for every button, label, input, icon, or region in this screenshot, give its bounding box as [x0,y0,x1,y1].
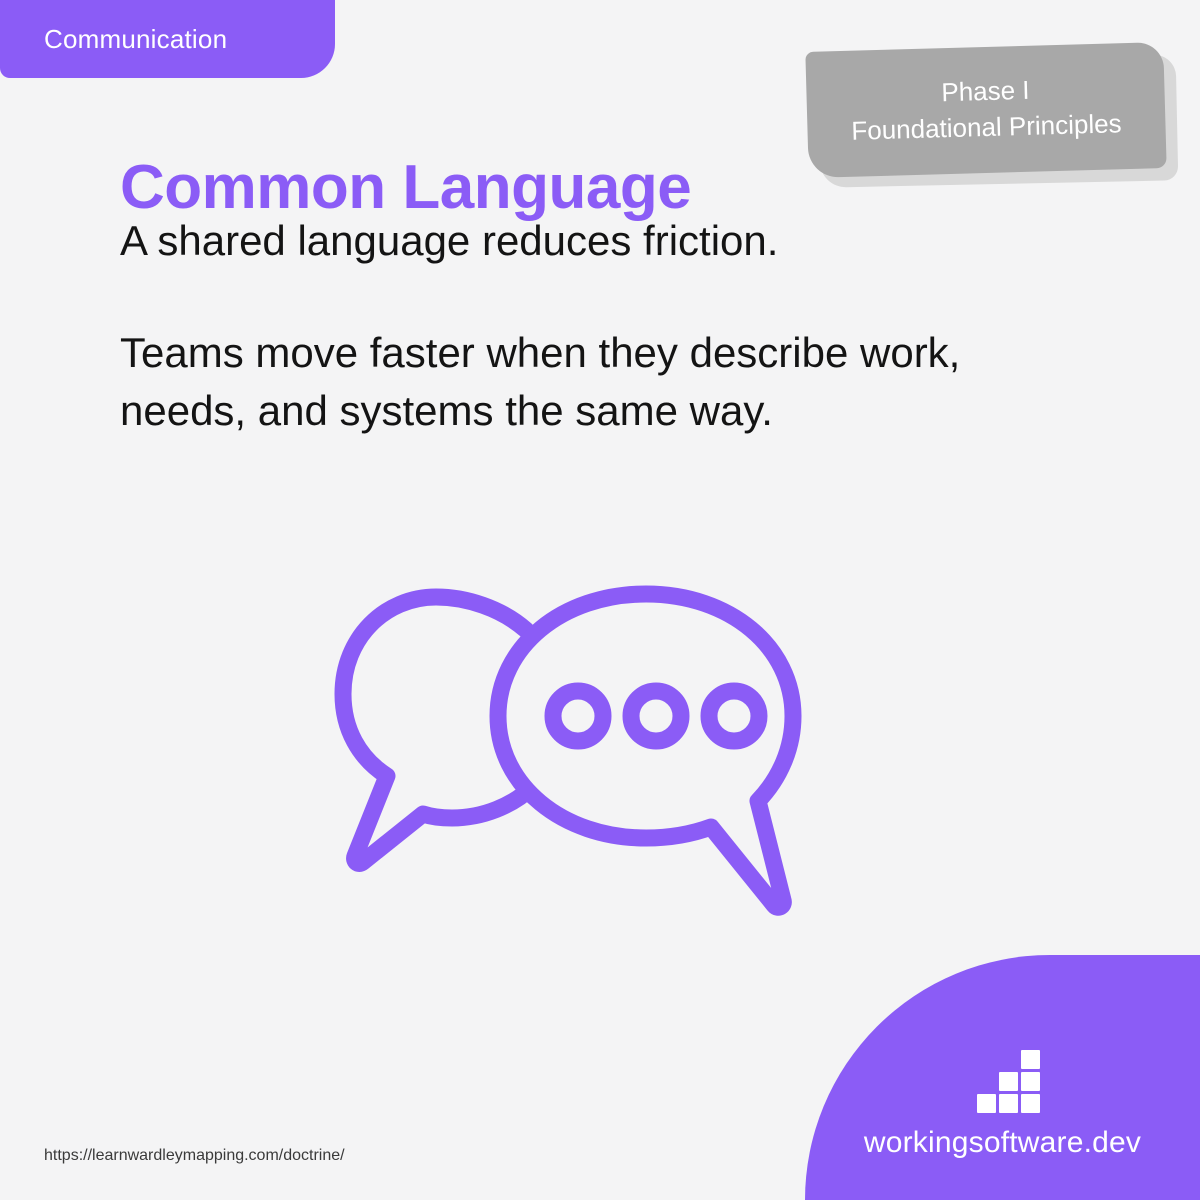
phase-sticker-body: Phase I Foundational Principles [805,42,1166,178]
logo-square-mid-right [1021,1072,1040,1091]
two-speech-bubbles-icon [330,570,830,935]
body-paragraph-2: Teams move faster when they describe wor… [120,324,1070,440]
logo-square-mid-center [999,1072,1018,1091]
logo-square-top-right [1021,1050,1040,1069]
body-paragraph-1: A shared language reduces friction. [120,212,1070,270]
brand-name: workingsoftware.dev [864,1128,1141,1158]
doctrine-card: Communication Phase I Foundational Princ… [0,0,1200,1200]
right-speech-bubble [498,594,793,907]
phase-sticker-line-2: Foundational Principles [851,109,1122,146]
speech-bubbles-svg [330,570,830,935]
logo-square-bottom-left [977,1094,996,1113]
category-tab: Communication [0,0,335,78]
staircase-blocks-logo [977,1050,1043,1112]
logo-square-bottom-center [999,1094,1018,1113]
phase-sticker-line-1: Phase I [941,76,1030,108]
logo-square-bottom-right [1021,1094,1040,1113]
body-copy: A shared language reduces friction. Team… [120,212,1070,440]
category-tab-label: Communication [44,26,227,52]
phase-sticker: Phase I Foundational Principles [805,42,1175,182]
source-url: https://learnwardleymapping.com/doctrine… [44,1148,345,1164]
brand-block: workingsoftware.dev [805,955,1200,1200]
